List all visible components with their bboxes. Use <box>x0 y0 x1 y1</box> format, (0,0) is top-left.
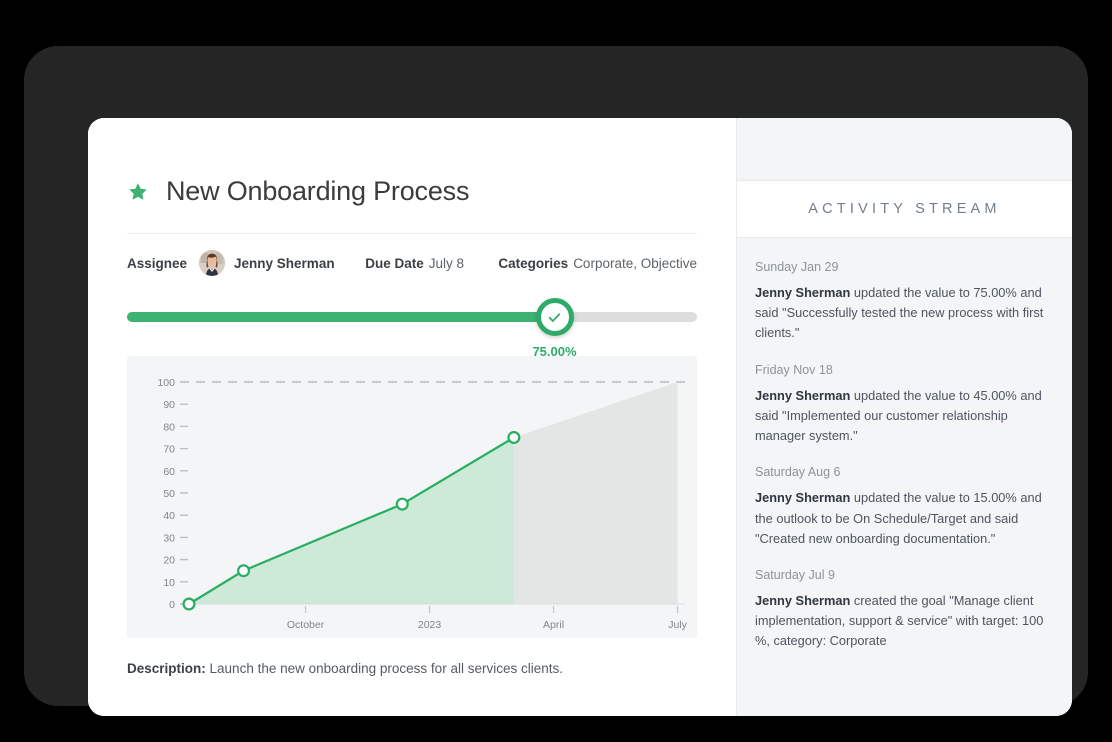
activity-entry-text: Jenny Sherman updated the value to 45.00… <box>755 386 1050 447</box>
star-icon[interactable] <box>127 181 149 203</box>
categories-group: Categories Corporate, Objective <box>498 256 697 271</box>
description: Description: Launch the new onboarding p… <box>127 660 697 679</box>
data-point <box>397 499 408 510</box>
activity-entry-actor: Jenny Sherman <box>755 490 850 505</box>
assignee-name: Jenny Sherman <box>234 256 335 271</box>
progress-chart: 0102030405060708090100October2023AprilJu… <box>127 356 697 638</box>
activity-list[interactable]: Sunday Jan 29Jenny Sherman updated the v… <box>737 238 1072 716</box>
due-date-value: July 8 <box>429 256 464 271</box>
y-axis-tick-label: 90 <box>163 399 175 411</box>
activity-entry: Saturday Jul 9Jenny Sherman created the … <box>755 568 1050 652</box>
y-axis-tick-label: 10 <box>163 577 175 589</box>
activity-entry-date: Friday Nov 18 <box>755 363 1050 377</box>
projection-area <box>514 382 678 604</box>
data-point <box>508 432 519 443</box>
categories-value: Corporate, Objective <box>573 256 697 271</box>
x-axis-tick-label: October <box>287 619 325 631</box>
y-axis-tick-label: 60 <box>163 466 175 478</box>
activity-entry-actor: Jenny Sherman <box>755 593 850 608</box>
page-title: New Onboarding Process <box>166 178 469 205</box>
activity-entry-actor: Jenny Sherman <box>755 388 850 403</box>
y-axis-tick-label: 80 <box>163 421 175 433</box>
meta-row: Assignee <box>127 250 697 276</box>
device-frame: New Onboarding Process Assignee <box>24 46 1088 706</box>
y-axis-tick-label: 0 <box>169 599 175 611</box>
activity-entry-date: Saturday Jul 9 <box>755 568 1050 582</box>
x-axis-tick-label: April <box>543 619 564 631</box>
assignee-group: Assignee <box>127 250 335 276</box>
activity-entry-text: Jenny Sherman created the goal "Manage c… <box>755 591 1050 652</box>
sidebar-header: ACTIVITY STREAM <box>737 180 1072 238</box>
check-icon <box>547 310 562 325</box>
progress-handle[interactable] <box>536 298 574 336</box>
progress-fill <box>127 312 555 322</box>
y-axis-tick-label: 40 <box>163 510 175 522</box>
y-axis-tick-label: 20 <box>163 555 175 567</box>
assignee-label: Assignee <box>127 256 187 271</box>
chart-canvas: 0102030405060708090100October2023AprilJu… <box>127 356 697 638</box>
progress-bar[interactable]: 75.00% <box>127 306 697 328</box>
avatar[interactable] <box>199 250 225 276</box>
activity-entry-text: Jenny Sherman updated the value to 15.00… <box>755 488 1050 549</box>
activity-sidebar: ACTIVITY STREAM Sunday Jan 29Jenny Sherm… <box>736 118 1072 716</box>
due-date-group: Due Date July 8 <box>365 256 464 271</box>
description-label: Description: <box>127 661 206 676</box>
title-row: New Onboarding Process <box>127 118 697 205</box>
y-axis-tick-label: 70 <box>163 444 175 456</box>
screenshot-stage: New Onboarding Process Assignee <box>0 0 1112 742</box>
activity-entry-text: Jenny Sherman updated the value to 75.00… <box>755 283 1050 344</box>
goal-detail-card: New Onboarding Process Assignee <box>88 118 1072 716</box>
activity-stream-title: ACTIVITY STREAM <box>808 201 1000 217</box>
x-axis-tick-label: 2023 <box>418 619 442 631</box>
main-panel: New Onboarding Process Assignee <box>88 118 736 716</box>
sidebar-top-strip <box>737 118 1072 180</box>
actual-area <box>189 438 514 605</box>
activity-entry: Saturday Aug 6Jenny Sherman updated the … <box>755 465 1050 549</box>
activity-entry-actor: Jenny Sherman <box>755 285 850 300</box>
categories-label: Categories <box>498 256 568 271</box>
y-axis-tick-label: 100 <box>157 377 175 389</box>
data-point <box>238 565 249 576</box>
activity-entry-date: Sunday Jan 29 <box>755 260 1050 274</box>
activity-entry: Sunday Jan 29Jenny Sherman updated the v… <box>755 260 1050 344</box>
y-axis-tick-label: 50 <box>163 488 175 500</box>
data-point <box>184 599 195 610</box>
x-axis-tick-label: July <box>668 619 687 631</box>
due-date-label: Due Date <box>365 256 424 271</box>
activity-entry: Friday Nov 18Jenny Sherman updated the v… <box>755 363 1050 447</box>
y-axis-tick-label: 30 <box>163 532 175 544</box>
header-divider <box>127 233 697 234</box>
activity-entry-date: Saturday Aug 6 <box>755 465 1050 479</box>
description-text: Launch the new onboarding process for al… <box>210 661 563 676</box>
